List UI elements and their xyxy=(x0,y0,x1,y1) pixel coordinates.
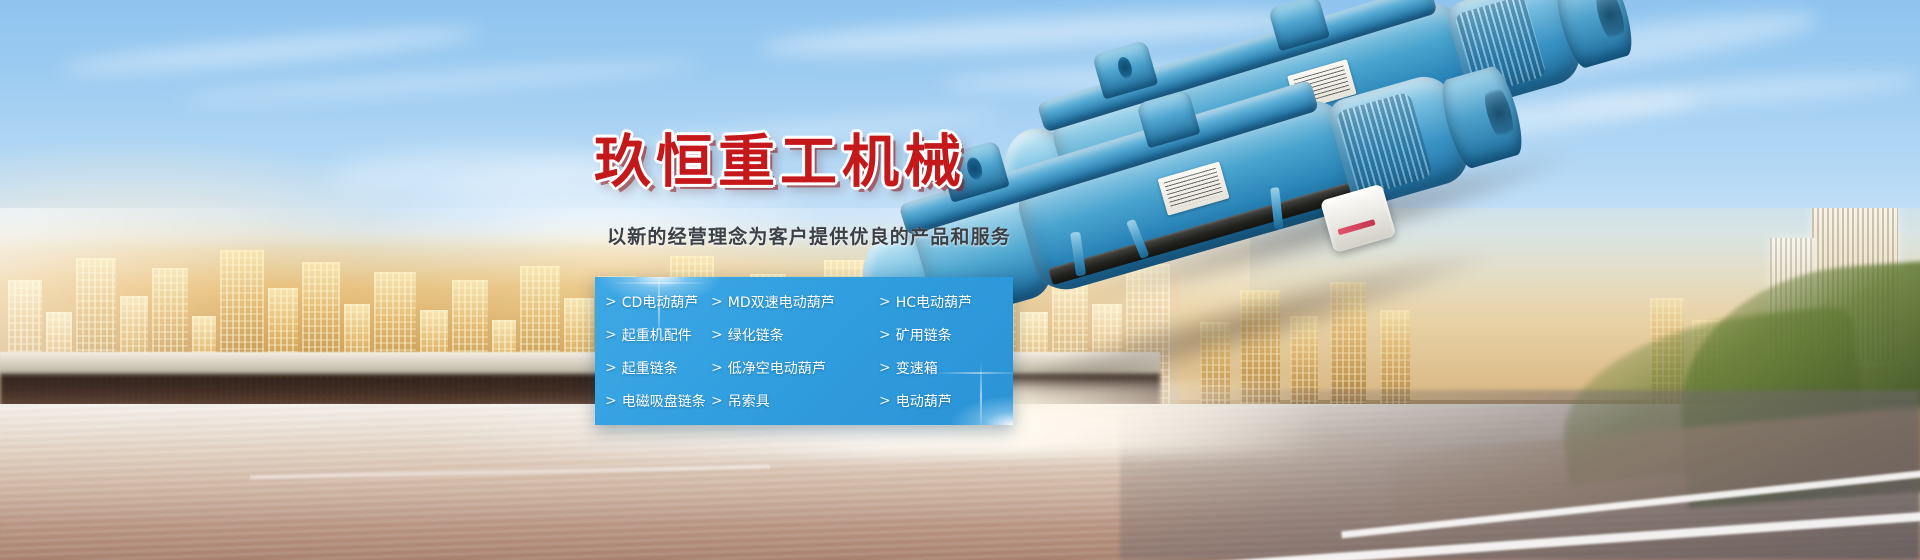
product-link-lifting-chain[interactable]: > 起重链条 xyxy=(605,358,711,378)
product-link-label: 起重链条 xyxy=(622,358,678,378)
product-link-label: 变速箱 xyxy=(896,358,938,378)
product-link-gearbox[interactable]: > 变速箱 xyxy=(853,358,1013,378)
product-link-md-dual-speed-hoist[interactable]: > MD双速电动葫芦 xyxy=(711,292,853,312)
page-title: 玖恒重工机械 xyxy=(594,134,966,191)
chevron-right-icon: > xyxy=(711,295,723,309)
chevron-right-icon: > xyxy=(879,394,891,408)
product-link-label: 吊索具 xyxy=(728,391,770,411)
product-link-label: 绿化链条 xyxy=(728,325,784,345)
chevron-right-icon: > xyxy=(605,328,617,342)
product-link-label: 矿用链条 xyxy=(896,325,952,345)
chevron-right-icon: > xyxy=(605,394,617,408)
chevron-right-icon: > xyxy=(879,361,891,375)
product-link-mining-chain[interactable]: > 矿用链条 xyxy=(853,325,1013,345)
hero-banner: 玖恒重工机械 以新的经营理念为客户提供优良的产品和服务 > CD电动葫芦 > M… xyxy=(0,0,1920,560)
product-link-label: MD双速电动葫芦 xyxy=(728,292,835,312)
chevron-right-icon: > xyxy=(711,361,723,375)
product-link-slings[interactable]: > 吊索具 xyxy=(711,391,853,411)
product-link-label: HC电动葫芦 xyxy=(896,292,972,312)
chevron-right-icon: > xyxy=(879,328,891,342)
product-links-grid: > CD电动葫芦 > MD双速电动葫芦 > HC电动葫芦 > 起重机配件 > 绿… xyxy=(595,277,1013,425)
chevron-right-icon: > xyxy=(605,361,617,375)
product-link-low-headroom-hoist[interactable]: > 低净空电动葫芦 xyxy=(711,358,853,378)
chevron-right-icon: > xyxy=(879,295,891,309)
product-link-cd-electric-hoist[interactable]: > CD电动葫芦 xyxy=(605,292,711,312)
product-links-panel: > CD电动葫芦 > MD双速电动葫芦 > HC电动葫芦 > 起重机配件 > 绿… xyxy=(595,277,1013,425)
page-subtitle: 以新的经营理念为客户提供优良的产品和服务 xyxy=(607,222,1011,249)
product-link-label: 低净空电动葫芦 xyxy=(728,358,826,378)
product-link-label: 起重机配件 xyxy=(622,325,692,345)
product-link-electric-hoist[interactable]: > 电动葫芦 xyxy=(853,391,1013,411)
product-link-crane-parts[interactable]: > 起重机配件 xyxy=(605,325,711,345)
product-link-greening-chain[interactable]: > 绿化链条 xyxy=(711,325,853,345)
product-link-label: CD电动葫芦 xyxy=(622,292,699,312)
product-link-label: 电磁吸盘链条 xyxy=(622,391,706,411)
product-link-label: 电动葫芦 xyxy=(896,391,952,411)
product-link-magnetic-chuck-chain[interactable]: > 电磁吸盘链条 xyxy=(605,391,711,411)
chevron-right-icon: > xyxy=(711,394,723,408)
product-link-hc-electric-hoist[interactable]: > HC电动葫芦 xyxy=(853,292,1013,312)
chevron-right-icon: > xyxy=(711,328,723,342)
chevron-right-icon: > xyxy=(605,295,617,309)
